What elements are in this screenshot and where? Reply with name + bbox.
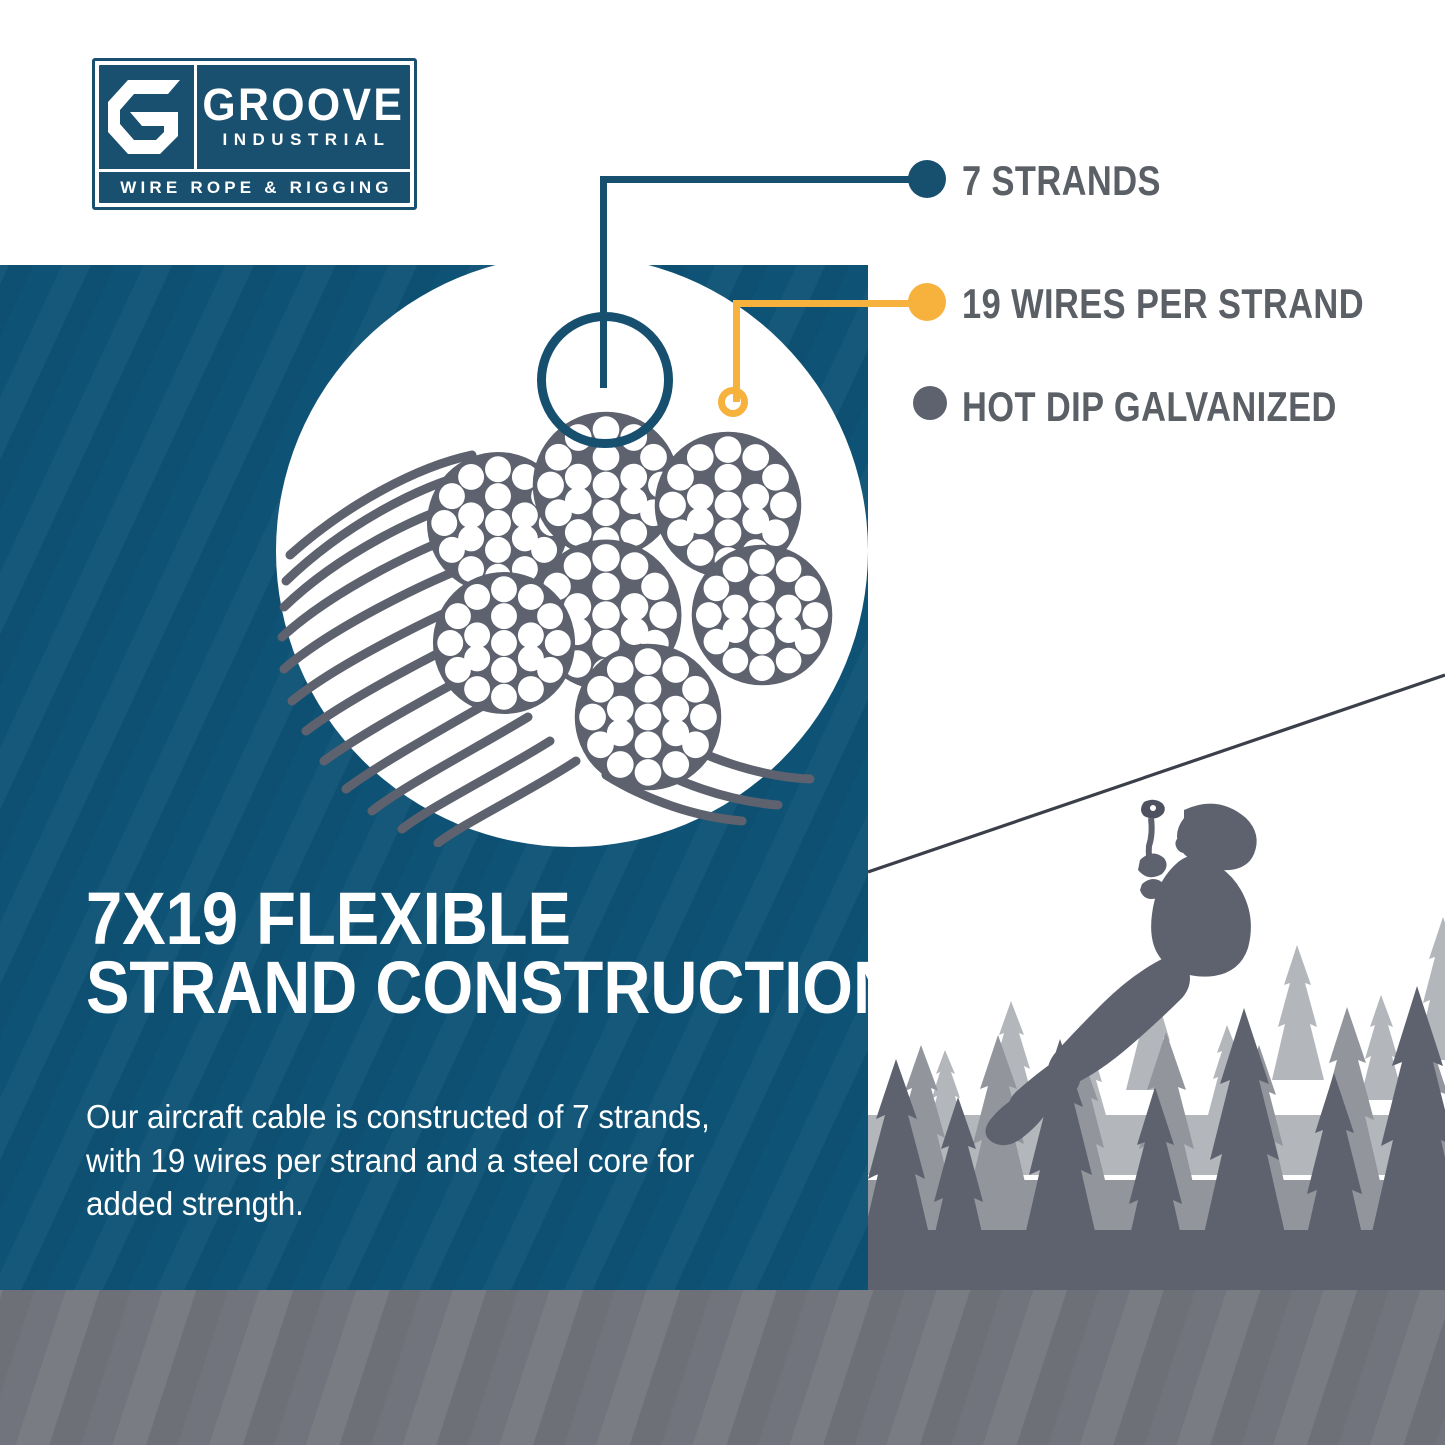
brand-word-cell: GROOVE INDUSTRIAL — [197, 65, 410, 169]
brand-tagline-cell: WIRE ROPE & RIGGING — [99, 172, 410, 203]
zipline-scene-svg — [868, 660, 1445, 1290]
brand-subname: INDUSTRIAL — [217, 130, 391, 150]
brand-mark-cell — [99, 65, 197, 169]
page-title-line-2: STRAND CONSTRUCTION — [86, 954, 755, 1023]
bottom-bar-texture — [0, 1290, 1445, 1445]
infographic-canvas: GROOVE INDUSTRIAL WIRE ROPE & RIGGING — [0, 0, 1445, 1445]
callout-dot-icon-strands — [908, 160, 946, 198]
brand-logo[interactable]: GROOVE INDUSTRIAL WIRE ROPE & RIGGING — [92, 58, 417, 210]
callout-dot-icon-galvanized — [913, 386, 947, 420]
brand-name: GROOVE — [203, 84, 405, 127]
callout-label-wires: 19 WIRES PER STRAND — [962, 280, 1364, 328]
callout-label-strands: 7 STRANDS — [962, 157, 1161, 205]
bottom-bar — [0, 1290, 1445, 1445]
wire-marker-ring-icon — [718, 387, 748, 417]
strand-cluster — [427, 412, 832, 791]
leader-line-wires — [733, 300, 928, 402]
groove-g-hexagon-icon — [108, 80, 186, 154]
body-description: Our aircraft cable is constructed of 7 s… — [86, 1095, 713, 1226]
callout-label-galvanized: HOT DIP GALVANIZED — [962, 383, 1337, 431]
callout-dot-icon-wires — [908, 283, 946, 321]
brand-logo-inner: GROOVE INDUSTRIAL WIRE ROPE & RIGGING — [99, 65, 410, 203]
page-title: 7X19 FLEXIBLE STRAND CONSTRUCTION — [86, 885, 755, 1023]
zipline-scene — [868, 660, 1445, 1290]
brand-tagline: WIRE ROPE & RIGGING — [116, 178, 392, 198]
page-title-line-1: 7X19 FLEXIBLE — [86, 885, 755, 954]
